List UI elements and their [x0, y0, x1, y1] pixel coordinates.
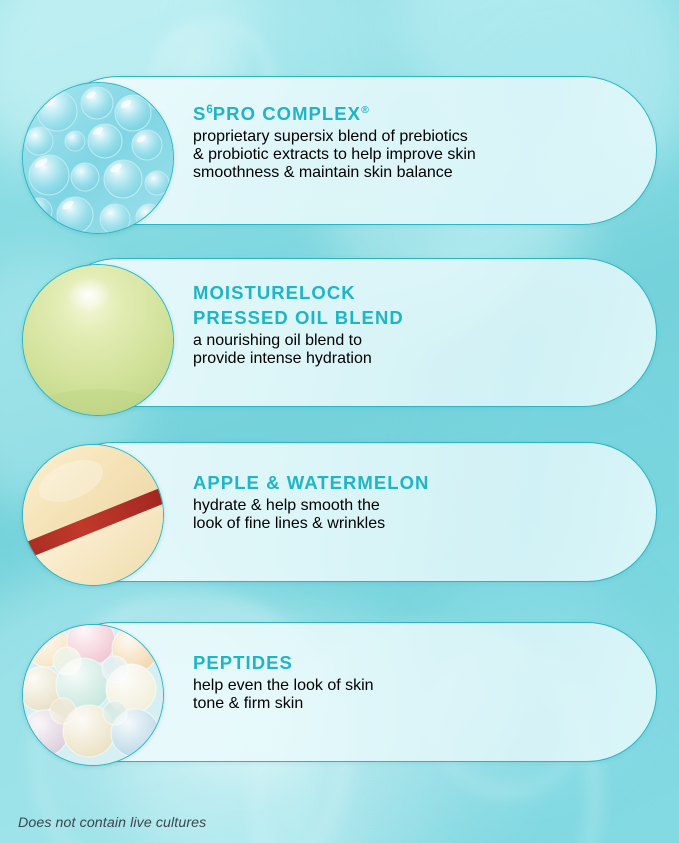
- title-line: MOISTURELOCK: [193, 280, 649, 305]
- description-line: look of fine lines & wrinkles: [193, 515, 649, 533]
- card-text-s6-pro-complex: S6PRO COMPLEX® proprietary supersix blen…: [193, 98, 649, 198]
- water-bubbles-icon: [22, 82, 174, 234]
- card-title-apple-watermelon: APPLE & WATERMELON: [193, 470, 649, 495]
- description-line: a nourishing oil blend to: [193, 332, 649, 350]
- registered-trademark-icon: ®: [361, 104, 369, 116]
- apple-slice-icon: [22, 444, 164, 586]
- description-line: & probiotic extracts to help improve ski…: [193, 146, 649, 164]
- description-line: proprietary supersix blend of prebiotics: [193, 128, 649, 146]
- title-line: PRESSED OIL BLEND: [193, 305, 649, 330]
- description-line: smoothness & maintain skin balance: [193, 164, 649, 182]
- pastel-gel-beads-icon: [22, 624, 164, 766]
- disclaimer-text: Does not contain live cultures: [18, 815, 206, 831]
- card-title-moisturelock: MOISTURELOCK PRESSED OIL BLEND: [193, 280, 649, 330]
- description-line: hydrate & help smooth the: [193, 497, 649, 515]
- card-title-s6-pro-complex: S6PRO COMPLEX®: [193, 98, 649, 126]
- card-text-moisturelock: MOISTURELOCK PRESSED OIL BLEND a nourish…: [193, 280, 649, 384]
- green-oil-sphere-icon: [22, 264, 174, 416]
- description-line: tone & firm skin: [193, 695, 649, 713]
- card-text-peptides: PEPTIDES help even the look of skin tone…: [193, 650, 649, 729]
- description-line: provide intense hydration: [193, 350, 649, 368]
- card-title-peptides: PEPTIDES: [193, 650, 649, 675]
- description-line: help even the look of skin: [193, 677, 649, 695]
- card-text-apple-watermelon: APPLE & WATERMELON hydrate & help smooth…: [193, 470, 649, 549]
